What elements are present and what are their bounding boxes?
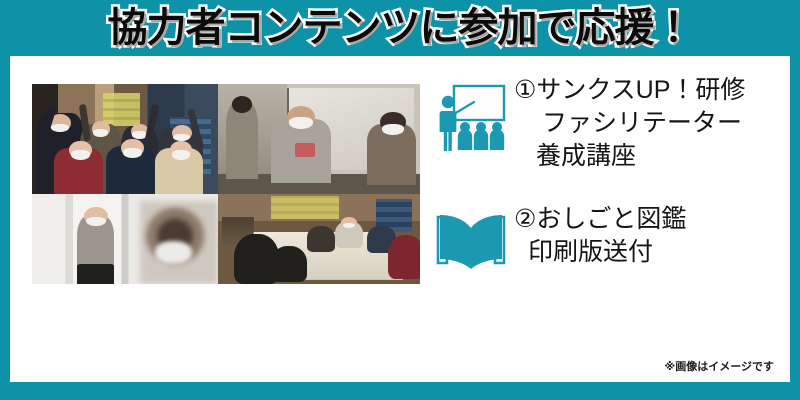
sticky-notes-wall [103, 93, 140, 126]
photo-interview [218, 84, 420, 194]
sticky-notes-wall [271, 196, 340, 219]
face-mask [172, 150, 191, 160]
benefit-text-book: ②おしごと図鑑 印刷版送付 [514, 203, 778, 269]
person-silhouette [271, 246, 307, 282]
photo-collage [32, 84, 420, 284]
photo-group-fists [32, 84, 218, 194]
person-head [232, 96, 252, 113]
page-title: 協力者コンテンツに参加で応援！ [108, 8, 693, 48]
benefit-text-training: ①サンクスUP！研修 ファシリテーター 養成講座 [514, 74, 778, 173]
face-mask [93, 129, 108, 137]
face-mask [71, 150, 90, 160]
benefit-line: ①サンクスUP！研修 [514, 74, 778, 107]
open-book-icon [434, 209, 508, 271]
benefit-list: ①サンクスUP！研修 ファシリテーター 養成講座 ②おしごと図鑑 印刷版送付 [428, 74, 778, 271]
photo-presenter [32, 194, 218, 284]
face-mask [123, 148, 142, 158]
banner-title-bar: 協力者コンテンツに参加で応援！ [0, 0, 800, 56]
benefit-item-book: ②おしごと図鑑 印刷版送付 [428, 203, 778, 271]
person-silhouette [226, 102, 258, 179]
benefit-item-training: ①サンクスUP！研修 ファシリテーター 養成講座 [428, 74, 778, 173]
training-presentation-icon [434, 80, 508, 154]
face-mask [382, 124, 404, 135]
skirt [77, 264, 114, 284]
photo-workshop [218, 194, 420, 284]
benefit-icon-container [428, 203, 514, 271]
benefit-line: ファシリテーター [514, 107, 778, 140]
benefit-icon-container [428, 74, 514, 154]
person-silhouette [388, 235, 420, 278]
face-mask [155, 241, 192, 264]
person-silhouette [307, 226, 335, 251]
face-mask [289, 117, 313, 129]
image-disclaimer: ※画像はイメージです [665, 358, 774, 374]
benefit-line: ②おしごと図鑑 [514, 203, 778, 236]
benefit-line: 養成講座 [514, 140, 778, 173]
content-panel: ①サンクスUP！研修 ファシリテーター 養成講座 ②おしごと図鑑 印刷版送付 [10, 56, 790, 382]
support-benefits-banner: 協力者コンテンツに参加で応援！ [0, 0, 800, 400]
benefit-line: 印刷版送付 [514, 236, 778, 269]
name-tag [295, 143, 315, 156]
